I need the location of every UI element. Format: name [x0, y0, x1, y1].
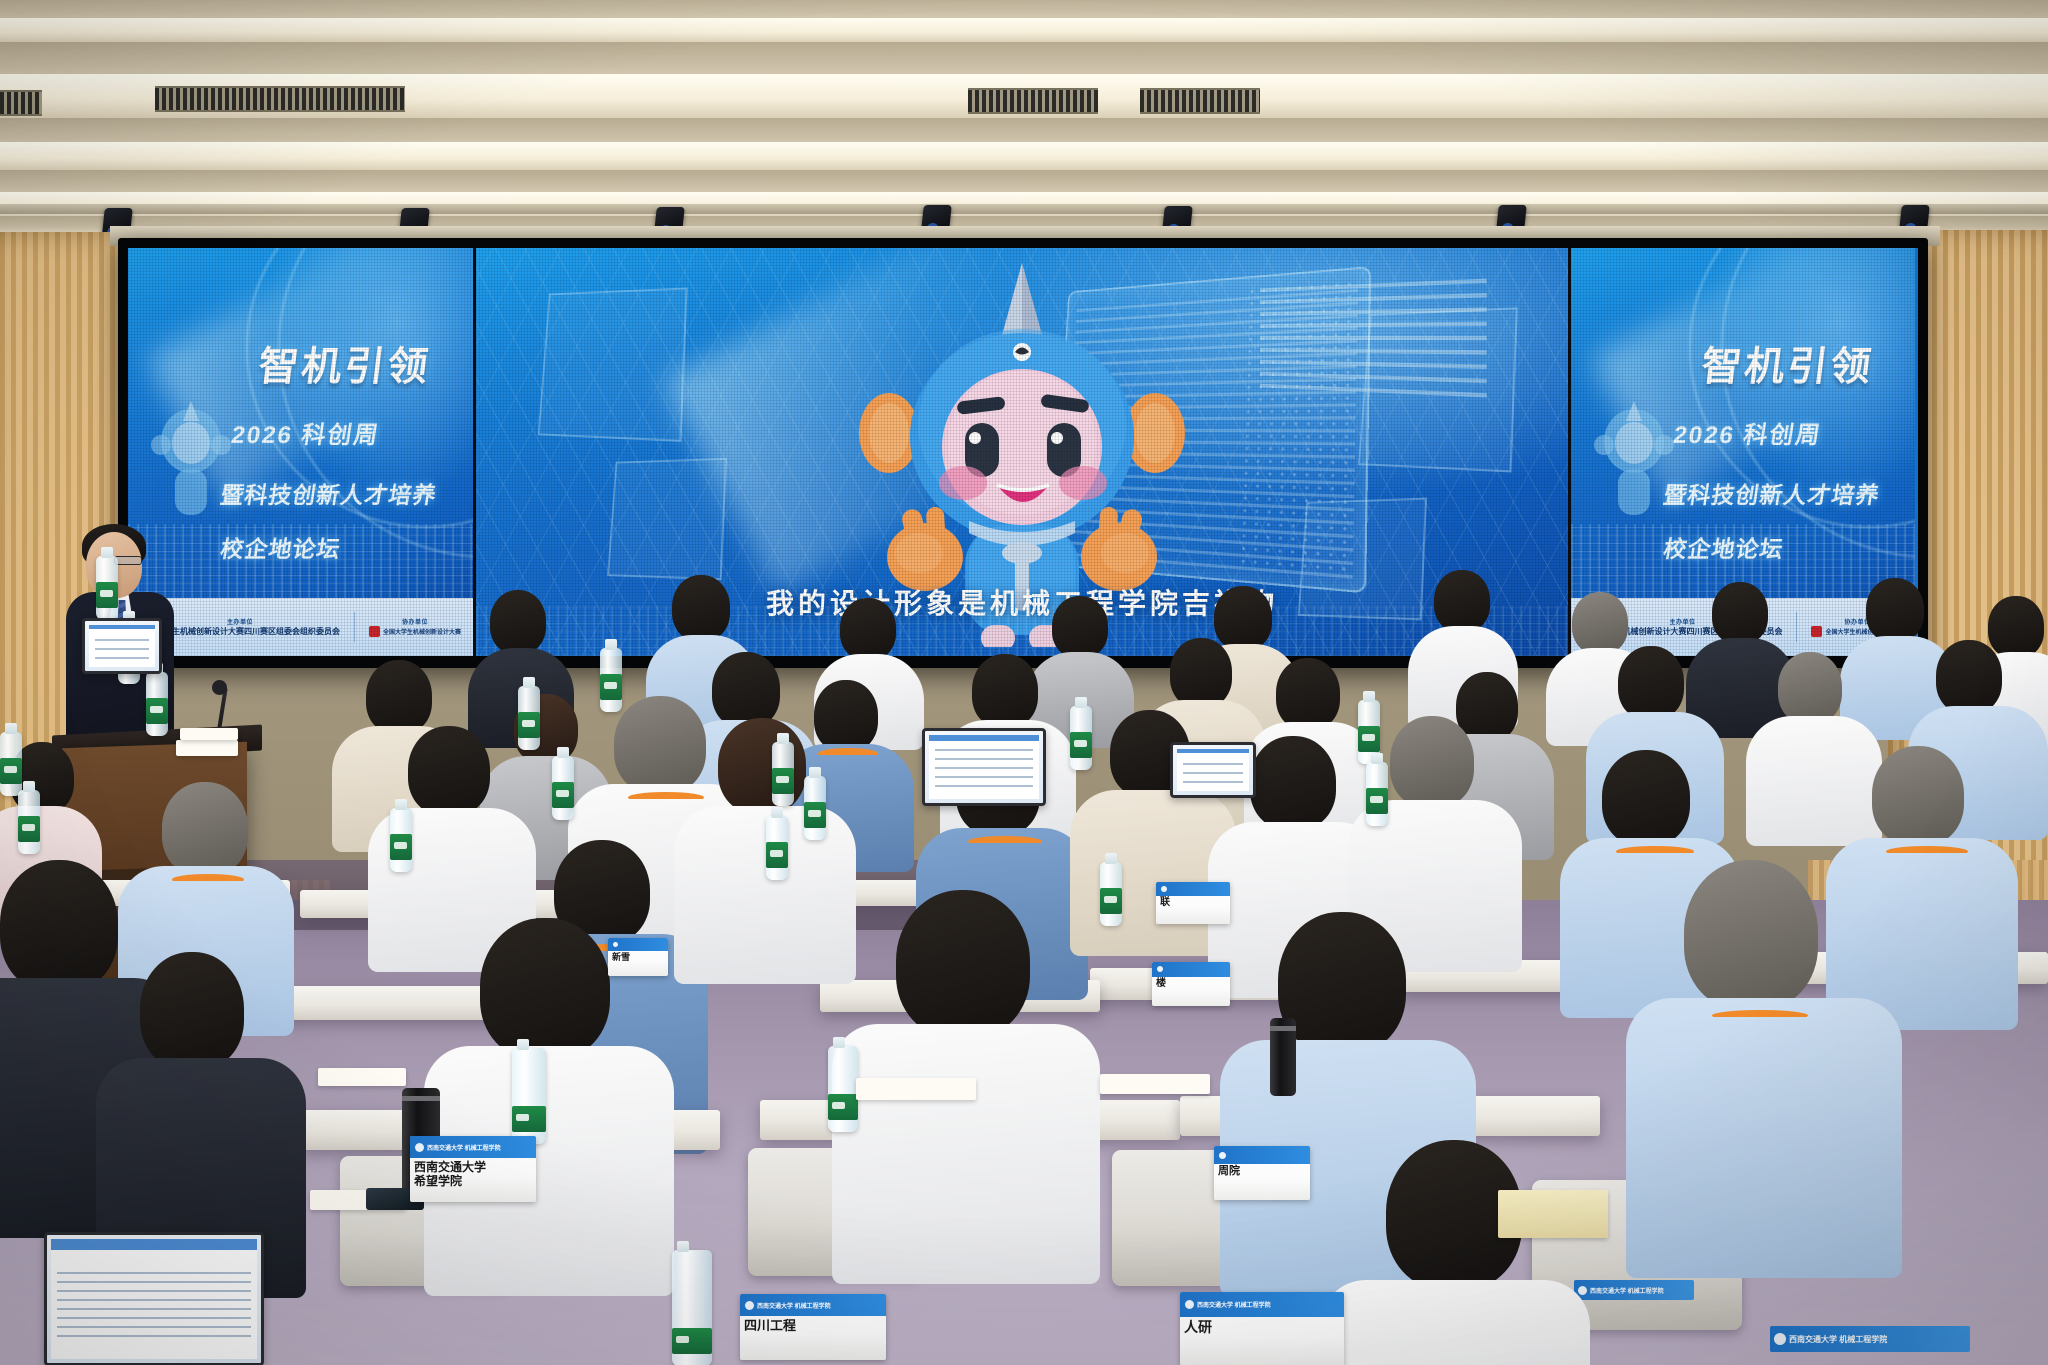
- poster-subtitle-3: 校企地论坛: [1661, 530, 1786, 564]
- led-panel-left: 智机引领 2026 科创周 暨科技创新人才培养 校企地论坛 主办单位 全国大学生…: [128, 248, 473, 656]
- name-tent: 西南交通大学 机械工程学院 四川工程: [740, 1294, 886, 1360]
- name-tent-line1: 人研: [1184, 1319, 1342, 1336]
- name-tent-org: 西南交通大学 机械工程学院: [757, 1301, 831, 1310]
- documents: [856, 1078, 976, 1100]
- poster-title: 智机引领: [1698, 334, 1877, 392]
- water-bottle: [18, 790, 40, 854]
- documents: [318, 1068, 406, 1086]
- poster-text-left: 智机引领 2026 科创周 暨科技创新人才培养 校企地论坛: [128, 248, 473, 656]
- water-bottle: [766, 816, 788, 880]
- hvac-vent: [1140, 88, 1260, 114]
- water-bottle: [146, 672, 168, 736]
- poster-banner-left: 主办单位 全国大学生机械创新设计大赛四川赛区组委会组织委员会 协办单位 全国大学…: [128, 598, 473, 656]
- water-bottle: [512, 1048, 546, 1144]
- glasses-icon: [114, 556, 142, 565]
- name-tent: 新雪: [608, 938, 668, 976]
- poster-subtitle-2: 暨科技创新人才培养: [1661, 476, 1882, 510]
- water-bottle: [600, 648, 622, 712]
- hvac-vent: [968, 88, 1098, 114]
- laptop: [1170, 742, 1256, 798]
- name-tent-org: 西南交通大学 机械工程学院: [427, 1143, 501, 1152]
- thermos-flask: [1270, 1018, 1296, 1096]
- lanyard: [628, 792, 704, 803]
- water-bottle: [0, 732, 22, 796]
- water-bottle: [1100, 862, 1122, 926]
- notebook: [1498, 1190, 1608, 1238]
- lanyard: [1616, 846, 1694, 857]
- chair-name-tag: 西南交通大学 机械工程学院: [1770, 1326, 1970, 1352]
- documents: [1100, 1074, 1210, 1094]
- water-bottle: [96, 556, 118, 620]
- water-bottle: [672, 1250, 712, 1365]
- lighting-track: [0, 204, 2048, 214]
- name-tent: 楼: [1152, 962, 1230, 1006]
- name-tent: 周院: [1214, 1146, 1310, 1200]
- lanyard: [818, 748, 878, 759]
- hvac-vent: [155, 86, 405, 112]
- podium-papers: [180, 728, 238, 740]
- sponsor-logo: 全国大学生机械创新设计大赛: [369, 626, 461, 637]
- led-panel-center: 我的设计形象是机械工程学院吉祥物: [473, 248, 1568, 656]
- podium-papers: [176, 740, 238, 756]
- water-bottle: [828, 1046, 858, 1132]
- name-tent: 西南交通大学 机械工程学院 西南交通大学 希望学院: [410, 1136, 536, 1202]
- chair-tag-org: 西南交通大学 机械工程学院: [1789, 1334, 1887, 1345]
- name-tent-line1: 周院: [1218, 1165, 1308, 1178]
- poster-subtitle-1: 2026 科创周: [1671, 415, 1825, 450]
- poster-subtitle-2: 暨科技创新人才培养: [218, 476, 439, 510]
- name-tent-line2: 希望学院: [414, 1174, 534, 1188]
- lanyard: [1712, 1010, 1808, 1021]
- laptop: [922, 728, 1046, 806]
- water-bottle: [1366, 762, 1388, 826]
- name-tent: 西南交通大学 机械工程学院 人研: [1180, 1292, 1344, 1365]
- name-tent-line1: 新雪: [612, 952, 666, 963]
- water-bottle: [804, 776, 826, 840]
- banner-kicker-right: 协办单位: [369, 617, 461, 626]
- poster-subtitle-1: 2026 科创周: [229, 415, 383, 450]
- conference-hall-photo: 智机引领 2026 科创周 暨科技创新人才培养 校企地论坛 主办单位 全国大学生…: [0, 0, 2048, 1365]
- hvac-vent: [0, 90, 42, 116]
- name-tent-line1: 楼: [1156, 978, 1228, 990]
- tech-text-art: [1260, 276, 1487, 397]
- lanyard: [172, 874, 244, 885]
- name-tent-line1: 联: [1160, 897, 1228, 909]
- name-tent-org: 西南交通大学 机械工程学院: [1197, 1300, 1271, 1309]
- water-bottle: [390, 808, 412, 872]
- name-tent: 联: [1156, 882, 1230, 924]
- name-tent-line1: 四川工程: [744, 1318, 884, 1333]
- name-tent-line1: 西南交通大学: [414, 1160, 534, 1174]
- led-video-wall: 智机引领 2026 科创周 暨科技创新人才培养 校企地论坛 主办单位 全国大学生…: [128, 248, 1918, 656]
- microphone-icon: [212, 680, 227, 695]
- laptop: [82, 618, 162, 674]
- water-bottle: [518, 686, 540, 750]
- lanyard: [1886, 846, 1968, 857]
- water-bottle: [772, 742, 794, 806]
- poster-title: 智机引领: [256, 334, 435, 392]
- lanyard: [968, 836, 1042, 847]
- water-bottle: [1070, 706, 1092, 770]
- chair-tag-org: 西南交通大学 机械工程学院: [1590, 1286, 1664, 1295]
- chair-name-tag: 西南交通大学 机械工程学院: [1574, 1280, 1694, 1300]
- poster-subtitle-3: 校企地论坛: [218, 530, 343, 564]
- laptop: [44, 1232, 264, 1365]
- water-bottle: [552, 756, 574, 820]
